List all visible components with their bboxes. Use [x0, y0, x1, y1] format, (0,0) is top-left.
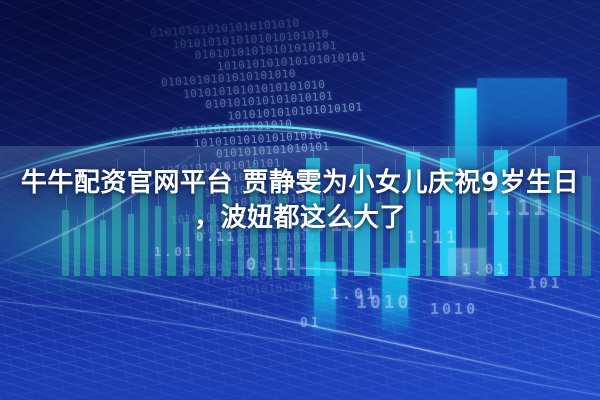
- hero-banner-image: 010101010101010101010 101010101010101010…: [0, 0, 600, 400]
- headline-line-1: 牛牛配资官网平台 贾静雯为小女儿庆祝9岁生日: [18, 166, 582, 201]
- headline: 牛牛配资官网平台 贾静雯为小女儿庆祝9岁生日 ，波妞都这么大了: [0, 166, 600, 236]
- lower-sweep-arc: [0, 268, 600, 392]
- lower-sweep-arc-2: [0, 300, 600, 398]
- right-curve: [300, 268, 600, 322]
- headline-line-2: ，波妞都这么大了: [18, 201, 582, 236]
